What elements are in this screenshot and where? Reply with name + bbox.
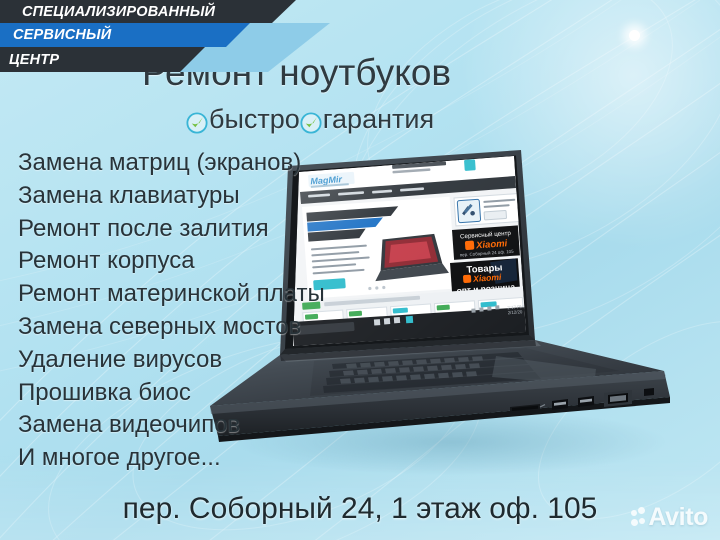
list-item: Замена клавиатуры — [18, 180, 325, 213]
list-item: Удаление вирусов — [18, 344, 325, 377]
services-list: Замена матриц (экранов) Замена клавиатур… — [18, 147, 325, 475]
avito-label: Avito — [648, 503, 708, 532]
ribbon-line-service: Сервисный — [0, 23, 250, 47]
check-circle-icon — [186, 110, 208, 132]
list-item: Ремонт материнской платы — [18, 278, 325, 311]
service-center-ribbon: Специализированный Сервисный Центр — [0, 0, 330, 72]
avito-watermark: Avito — [631, 503, 708, 532]
ribbon-line-specialized: Специализированный — [0, 0, 296, 23]
benefit-label-warranty: гарантия — [323, 104, 434, 135]
check-circle-icon — [300, 110, 322, 132]
list-item: Ремонт корпуса — [18, 245, 325, 278]
benefit-label-fast: быстро — [209, 104, 300, 135]
list-item: Замена северных мостов — [18, 311, 325, 344]
list-item: Ремонт после залития — [18, 213, 325, 246]
ribbon-line-center: Центр — [0, 47, 205, 72]
list-item: Замена матриц (экранов) — [18, 147, 325, 180]
light-glow-decoration — [629, 30, 640, 41]
list-item: Замена видеочипов — [18, 409, 325, 442]
address-text: пер. Соборный 24, 1 этаж оф. 105 — [0, 492, 720, 526]
avito-dots-icon — [631, 507, 645, 529]
benefits-row: быстро гарантия — [186, 104, 434, 135]
list-item: Прошивка биос — [18, 377, 325, 410]
list-item: И многое другое... — [18, 442, 325, 475]
advertisement-canvas: Специализированный Сервисный Центр Ремон… — [0, 0, 720, 540]
